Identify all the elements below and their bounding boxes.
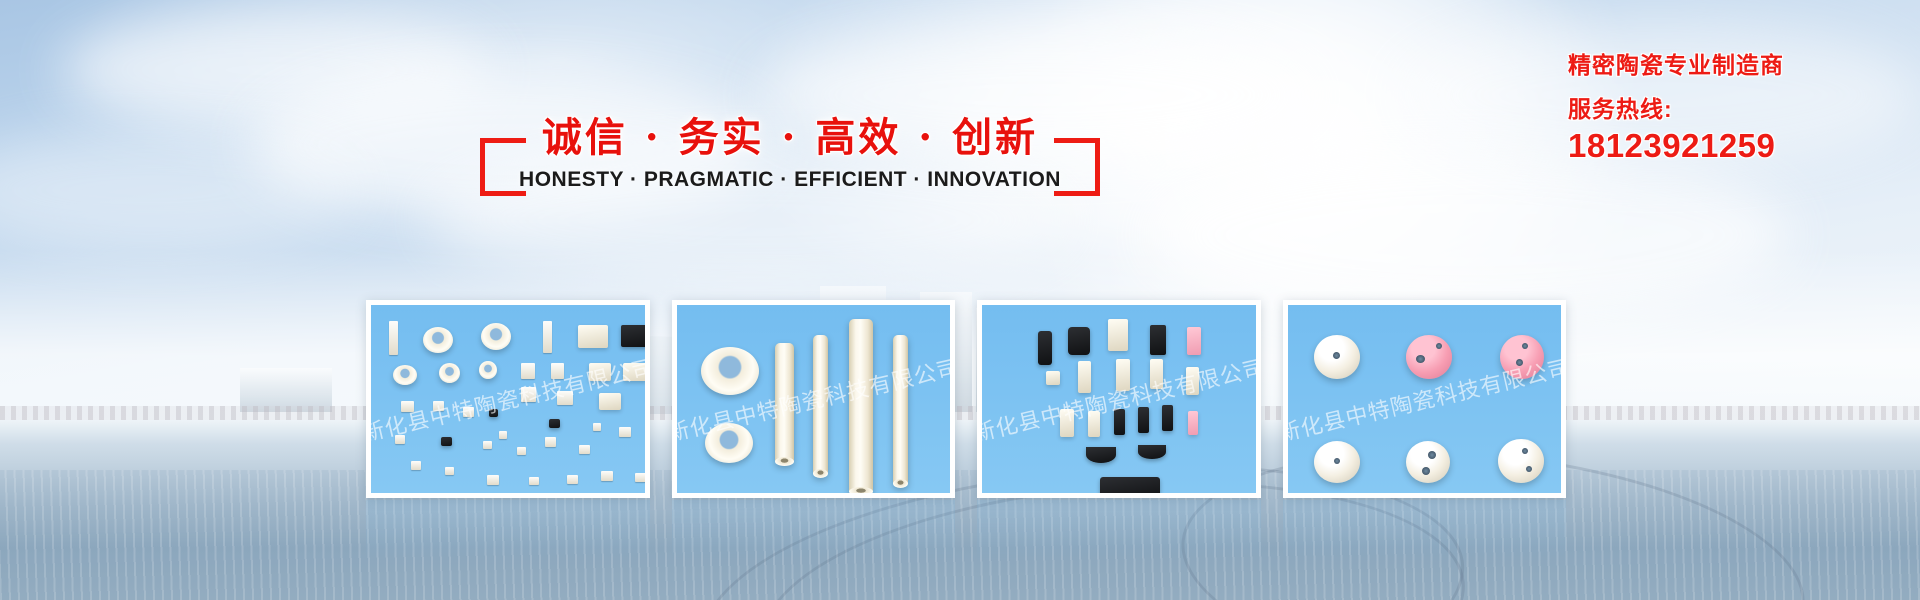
- company-tagline: 精密陶瓷专业制造商: [1568, 50, 1908, 80]
- hotline-label: 服务热线:: [1568, 94, 1908, 124]
- hotline-number[interactable]: 18123921259: [1568, 126, 1908, 166]
- product-panel-ceramic-blocks-and-blades[interactable]: 新化县中特陶瓷科技有限公司: [977, 300, 1261, 498]
- hero-banner: 诚信 · 务实 · 高效 · 创新 HONESTY · PRAGMATIC · …: [0, 0, 1920, 600]
- contact-info: 精密陶瓷专业制造商 服务热线: 18123921259: [1568, 50, 1908, 166]
- slogan-english: HONESTY · PRAGMATIC · EFFICIENT · INNOVA…: [480, 168, 1100, 192]
- panel-reflections: [366, 500, 1566, 564]
- product-panel-smd-ceramic-components[interactable]: 新化县中特陶瓷科技有限公司: [366, 300, 650, 498]
- product-panel-ceramic-discs-and-caps[interactable]: 新化县中特陶瓷科技有限公司: [1283, 300, 1567, 498]
- product-panel-ceramic-tubes-and-rings[interactable]: 新化县中特陶瓷科技有限公司: [672, 300, 956, 498]
- slogan-block: 诚信 · 务实 · 高效 · 创新 HONESTY · PRAGMATIC · …: [480, 110, 1100, 205]
- slogan-chinese: 诚信 · 务实 · 高效 · 创新: [480, 110, 1100, 166]
- product-panel-row: 新化县中特陶瓷科技有限公司 新化县中特陶瓷科技有限公司: [366, 300, 1566, 498]
